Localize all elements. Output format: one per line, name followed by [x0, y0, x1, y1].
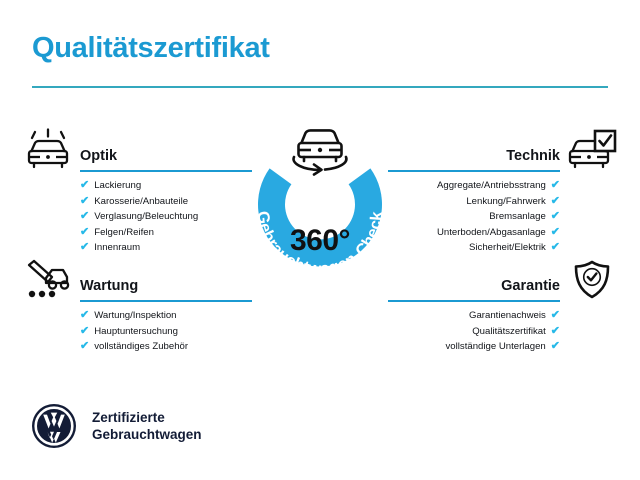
list-item-label: Bremsanlage: [489, 209, 546, 225]
checklist-optik: ✔Lackierung ✔Karosserie/Anbauteile ✔Verg…: [22, 178, 252, 256]
list-item-label: Unterboden/Abgasanlage: [437, 225, 546, 241]
car-checkbox-icon: [566, 128, 618, 172]
list-item-label: Aggregate/Antriebsstrang: [437, 178, 546, 194]
list-item: Lenkung/Fahrwerk✔: [388, 194, 618, 210]
badge-degrees: 360°: [228, 224, 412, 258]
list-item: Sicherheit/Elektrik✔: [388, 240, 618, 256]
check-icon: ✔: [80, 227, 89, 238]
check-icon: ✔: [80, 211, 89, 222]
check-icon: ✔: [551, 242, 560, 253]
shield-check-icon: [566, 258, 618, 302]
section-wartung: Wartung ✔Wartung/Inspektion ✔Hauptunters…: [22, 258, 252, 355]
list-item: ✔Lackierung: [22, 178, 252, 194]
list-item-label: Qualitätszertifikat: [472, 324, 546, 340]
footer-brand-text: Zertifizierte Gebrauchtwagen: [92, 409, 202, 443]
checklist-technik: Aggregate/Antriebsstrang✔ Lenkung/Fahrwe…: [388, 178, 618, 256]
list-item-label: Wartung/Inspektion: [94, 308, 176, 324]
list-item: ✔Hauptuntersuchung: [22, 324, 252, 340]
list-item-label: Verglasung/Beleuchtung: [94, 209, 198, 225]
certificate-page: Qualitätszertifikat: [0, 0, 640, 480]
list-item: ✔vollständiges Zubehör: [22, 339, 252, 355]
car-wrench-icon: [22, 258, 74, 302]
car-rotate-icon: [294, 130, 347, 174]
check-icon: ✔: [551, 310, 560, 321]
section-title: Technik: [506, 148, 560, 164]
list-item: vollständige Unterlagen✔: [388, 339, 618, 355]
section-header: Optik: [22, 128, 252, 174]
section-technik: Technik Aggregate/Antriebsstrang✔ Lenkun…: [388, 128, 618, 256]
check-icon: ✔: [551, 196, 560, 207]
check-icon: ✔: [551, 211, 560, 222]
list-item: ✔Verglasung/Beleuchtung: [22, 209, 252, 225]
list-item: Qualitätszertifikat✔: [388, 324, 618, 340]
list-item: Garantienachweis✔: [388, 308, 618, 324]
page-title: Qualitätszertifikat: [32, 32, 270, 65]
badge-360-gebrauchtwagen-check: Gebrauchtwagen-Check 360°: [228, 112, 412, 302]
list-item: ✔Felgen/Reifen: [22, 225, 252, 241]
check-icon: ✔: [551, 180, 560, 191]
section-header: Technik: [388, 128, 618, 174]
check-icon: ✔: [80, 196, 89, 207]
section-header: Garantie: [388, 258, 618, 304]
list-item-label: vollständige Unterlagen: [446, 339, 546, 355]
check-icon: ✔: [551, 326, 560, 337]
list-item: ✔Innenraum: [22, 240, 252, 256]
section-optik: Optik ✔Lackierung ✔Karosserie/Anbauteile…: [22, 128, 252, 256]
check-icon: ✔: [80, 310, 89, 321]
vw-logo-icon: [30, 402, 78, 450]
header-divider: [32, 86, 608, 88]
check-icon: ✔: [80, 326, 89, 337]
section-underline: [80, 300, 252, 302]
check-icon: ✔: [80, 180, 89, 191]
list-item-label: vollständiges Zubehör: [94, 339, 188, 355]
list-item: ✔Wartung/Inspektion: [22, 308, 252, 324]
list-item-label: Garantienachweis: [469, 308, 546, 324]
list-item: Unterboden/Abgasanlage✔: [388, 225, 618, 241]
footer-brand: Zertifizierte Gebrauchtwagen: [30, 402, 202, 450]
list-item: ✔Karosserie/Anbauteile: [22, 194, 252, 210]
list-item-label: Innenraum: [94, 240, 140, 256]
list-item-label: Lackierung: [94, 178, 141, 194]
check-icon: ✔: [80, 341, 89, 352]
section-underline: [80, 170, 252, 172]
section-title: Optik: [80, 148, 117, 164]
section-header: Wartung: [22, 258, 252, 304]
section-underline: [388, 170, 560, 172]
check-icon: ✔: [551, 341, 560, 352]
list-item-label: Lenkung/Fahrwerk: [466, 194, 545, 210]
checklist-garantie: Garantienachweis✔ Qualitätszertifikat✔ v…: [388, 308, 618, 355]
list-item: Aggregate/Antriebsstrang✔: [388, 178, 618, 194]
list-item-label: Karosserie/Anbauteile: [94, 194, 188, 210]
check-icon: ✔: [80, 242, 89, 253]
checklist-wartung: ✔Wartung/Inspektion ✔Hauptuntersuchung ✔…: [22, 308, 252, 355]
list-item-label: Hauptuntersuchung: [94, 324, 178, 340]
list-item: Bremsanlage✔: [388, 209, 618, 225]
car-shine-icon: [22, 128, 74, 172]
list-item-label: Felgen/Reifen: [94, 225, 154, 241]
section-title: Garantie: [501, 278, 560, 294]
check-icon: ✔: [551, 227, 560, 238]
section-underline: [388, 300, 560, 302]
section-garantie: Garantie Garantienachweis✔ Qualitätszert…: [388, 258, 618, 355]
section-title: Wartung: [80, 278, 138, 294]
list-item-label: Sicherheit/Elektrik: [469, 240, 546, 256]
